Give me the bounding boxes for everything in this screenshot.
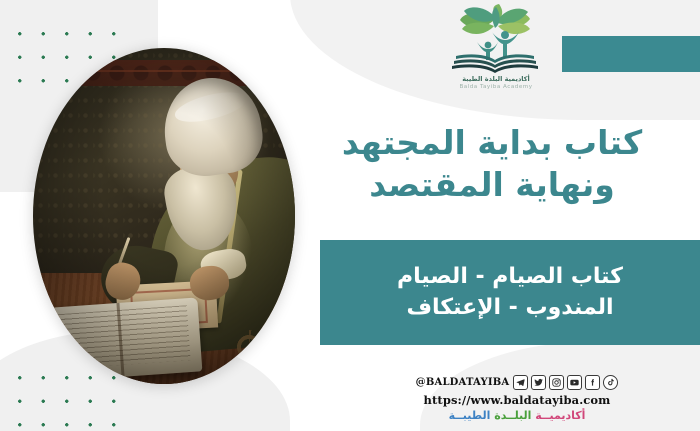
tree-book-logo-icon [450, 4, 542, 74]
page-title-line-1: كتاب بداية المجتهد [306, 122, 678, 164]
accent-bar-top-right [562, 36, 700, 72]
subtitle-line-1: كتاب الصيام - الصيام [397, 262, 623, 292]
tiktok-icon[interactable] [603, 375, 618, 390]
instagram-icon[interactable] [549, 375, 564, 390]
subtitle-banner: كتاب الصيام - الصيام المندوب - الإعتكاف [320, 240, 700, 345]
academy-word-1: أكاديميــة [535, 409, 585, 422]
subtitle-text: كتاب الصيام - الصيام المندوب - الإعتكاف [379, 262, 641, 323]
logo-text-english: Balda Tayiba Academy [441, 84, 551, 90]
social-handle: @BALDATAYIBA [416, 377, 510, 388]
social-links[interactable] [513, 375, 618, 390]
facebook-icon[interactable] [585, 375, 600, 390]
footer-handle-row: @BALDATAYIBA [352, 375, 682, 390]
poster-canvas: أكاديمية البلدة الطيبة Balda Tayiba Acad… [0, 0, 700, 431]
hero-vignette [33, 48, 295, 384]
page-title: كتاب بداية المجتهد ونهاية المقتصد [306, 122, 678, 205]
academy-word-2: البلــدة [494, 409, 531, 422]
academy-logo: أكاديمية البلدة الطيبة Balda Tayiba Acad… [441, 4, 551, 102]
youtube-icon[interactable] [567, 375, 582, 390]
logo-text-arabic: أكاديمية البلدة الطيبة [441, 75, 551, 83]
academy-name-arabic: أكاديميــة البلــدة الطيبــة [352, 409, 682, 422]
subtitle-line-2: المندوب - الإعتكاف [397, 293, 623, 323]
twitter-icon[interactable] [531, 375, 546, 390]
academy-word-3: الطيبــة [449, 409, 491, 422]
footer: @BALDATAYIBA [352, 375, 682, 422]
telegram-icon[interactable] [513, 375, 528, 390]
hero-image [33, 48, 295, 384]
website-url[interactable]: https://www.baldatayiba.com [352, 393, 682, 407]
page-title-line-2: ونهاية المقتصد [306, 164, 678, 206]
